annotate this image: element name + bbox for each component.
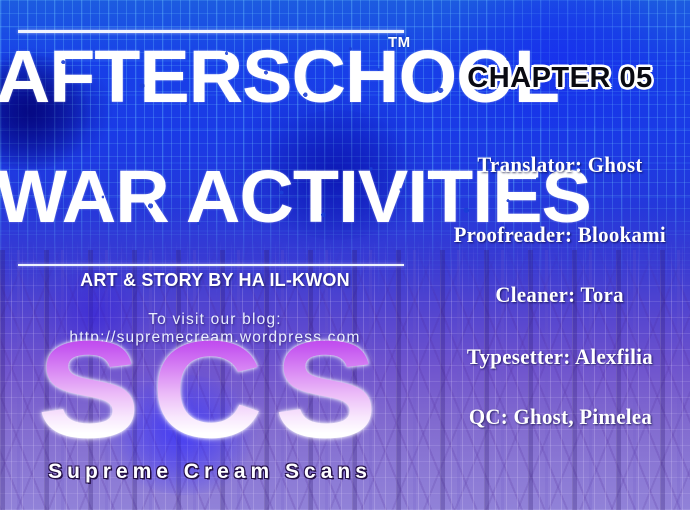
credit-translator-text: Translator: Ghost: [477, 152, 642, 178]
scs-tagline: Supreme Cream Scans: [0, 460, 420, 484]
title-line-2: WAR ACTIVITIES: [0, 160, 434, 234]
chapter-label: CHAPTER 05: [430, 62, 690, 95]
credit-row-cleaner: Cleaner: Tora: [430, 282, 690, 308]
credit-row-proofreader: Proofreader: Blookami: [430, 222, 690, 248]
title-line-1: AFTERSCHOOL: [0, 40, 434, 114]
credits-panel: CHAPTER 05 Translator: Ghost Proofreader…: [430, 0, 690, 510]
credit-typesetter-text: Typesetter: Alexfilia: [467, 344, 653, 370]
manga-cover-page: AFTERSCHOOL WAR ACTIVITIES TM ART & STOR…: [0, 0, 690, 510]
divider-top: [18, 30, 404, 33]
scs-initials: SCS: [37, 330, 388, 450]
author-byline: ART & STORY BY HA IL-KWON: [0, 270, 430, 291]
credit-row-qc: QC: Ghost, Pimelea: [430, 404, 690, 430]
credit-row-translator: Translator: Ghost: [430, 152, 690, 178]
credit-cleaner-text: Cleaner: Tora: [496, 282, 625, 308]
credit-row-typesetter: Typesetter: Alexfilia: [430, 344, 690, 370]
credit-qc-text: QC: Ghost, Pimelea: [468, 404, 651, 430]
scanlation-group-logo: SCS: [8, 330, 418, 460]
trademark-mark: TM: [388, 34, 411, 51]
credit-proofreader-text: Proofreader: Blookami: [454, 222, 666, 248]
divider-subtitle: [18, 264, 404, 266]
